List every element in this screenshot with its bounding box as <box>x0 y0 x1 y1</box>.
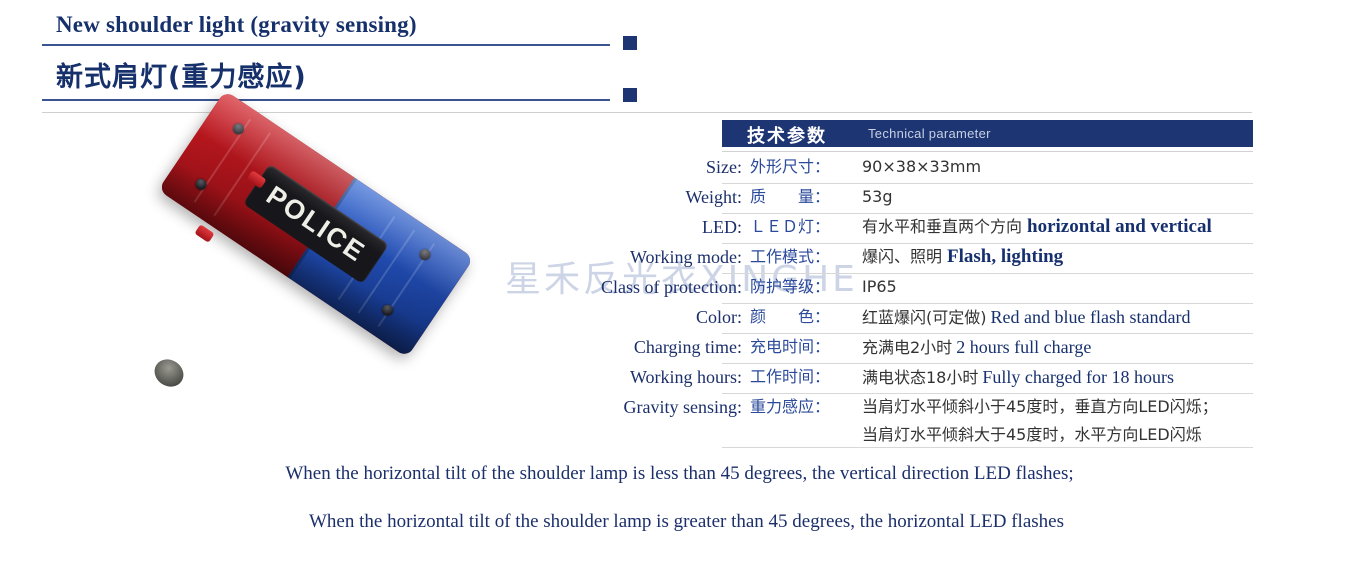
spec-value-text: 爆闪、照明 <box>862 247 942 266</box>
spec-row: Working hours:工作时间：满电状态18小时Fully charged… <box>0 364 1345 394</box>
square-accent-icon-top <box>623 36 637 50</box>
footer-notes: When the horizontal tilt of the shoulder… <box>0 458 1345 538</box>
spec-value-english-bold: horizontal and vertical <box>1027 216 1212 237</box>
square-accent-icon-bottom <box>623 88 637 102</box>
spec-value-text: 90×38×33mm <box>862 157 981 176</box>
page-title-chinese: 新式肩灯(重力感应) <box>56 55 307 94</box>
spec-row: LED:ＬＥＤ灯：有水平和垂直两个方向horizontal and vertic… <box>0 214 1345 244</box>
spec-row-separator <box>722 447 1253 448</box>
spec-value: 爆闪、照明Flash, lighting <box>862 244 1063 270</box>
spec-label-chinese: 防护等级： <box>750 274 854 300</box>
spec-value-english: Red and blue flash standard <box>991 307 1191 327</box>
spec-label-english: Weight: <box>0 184 742 210</box>
spec-row: Working mode:工作模式：爆闪、照明Flash, lighting <box>0 244 1345 274</box>
spec-label-english: LED: <box>0 214 742 240</box>
spec-label-english: Gravity sensing: <box>0 394 742 420</box>
spec-value-text: IP65 <box>862 277 897 296</box>
spec-value-english-bold: Flash, lighting <box>947 246 1063 267</box>
spec-row: Color:颜 色：红蓝爆闪(可定做)Red and blue flash st… <box>0 304 1345 334</box>
spec-value-text: 红蓝爆闪(可定做) <box>862 308 987 327</box>
page-title-english: New shoulder light (gravity sensing) <box>56 12 417 38</box>
spec-value: 满电状态18小时Fully charged for 18 hours <box>862 364 1174 391</box>
spec-header-underline <box>722 151 1253 152</box>
spec-label-english: Color: <box>0 304 742 330</box>
spec-value-english: 2 hours full charge <box>956 337 1091 357</box>
spec-value: 有水平和垂直两个方向horizontal and vertical <box>862 214 1212 240</box>
spec-value: 充满电2小时2 hours full charge <box>862 334 1091 361</box>
header-divider-bottom <box>42 99 610 101</box>
note-line-2: When the horizontal tilt of the shoulder… <box>0 506 1345 538</box>
spec-label-chinese: 充电时间： <box>750 334 854 360</box>
spec-value: 当肩灯水平倾斜小于45度时，垂直方向LED闪烁；当肩灯水平倾斜大于45度时，水平… <box>862 394 1218 448</box>
spec-row: Class of protection:防护等级：IP65 <box>0 274 1345 304</box>
spec-label-english: Size: <box>0 154 742 180</box>
spec-table: Size:外形尺寸：90×38×33mmWeight:质 量：53gLED:ＬＥ… <box>0 154 1345 448</box>
spec-value-second-line: 当肩灯水平倾斜大于45度时，水平方向LED闪烁 <box>862 422 1218 448</box>
spec-value: IP65 <box>862 274 897 300</box>
spec-label-chinese: 颜 色： <box>750 304 854 330</box>
note-line-1: When the horizontal tilt of the shoulder… <box>0 458 1345 490</box>
spec-value-text: 当肩灯水平倾斜小于45度时，垂直方向LED闪烁； <box>862 397 1218 416</box>
spec-row: Size:外形尺寸：90×38×33mm <box>0 154 1345 184</box>
spec-row: Weight:质 量：53g <box>0 184 1345 214</box>
spec-label-english: Charging time: <box>0 334 742 360</box>
spec-label-chinese: 工作时间： <box>750 364 854 390</box>
spec-value-text: 有水平和垂直两个方向 <box>862 217 1022 236</box>
spec-value-text: 满电状态18小时 <box>862 368 978 387</box>
spec-label-chinese: ＬＥＤ灯： <box>750 214 854 240</box>
spec-value: 90×38×33mm <box>862 154 981 180</box>
spec-value: 红蓝爆闪(可定做)Red and blue flash standard <box>862 304 1190 331</box>
spec-label-chinese: 工作模式： <box>750 244 854 270</box>
spec-value: 53g <box>862 184 893 210</box>
spec-value-text: 53g <box>862 187 893 206</box>
page-header: New shoulder light (gravity sensing) 新式肩… <box>0 0 1345 118</box>
spec-header-chinese: 技术参数 <box>747 122 827 148</box>
header-divider-top <box>42 44 610 46</box>
spec-label-english: Working hours: <box>0 364 742 390</box>
spec-label-english: Class of protection: <box>0 274 742 300</box>
spec-label-chinese: 外形尺寸： <box>750 154 854 180</box>
spec-row: Charging time:充电时间：充满电2小时2 hours full ch… <box>0 334 1345 364</box>
spec-label-chinese: 重力感应： <box>750 394 854 420</box>
spec-header-bar: 技术参数 Technical parameter <box>722 120 1253 147</box>
spec-value-text: 充满电2小时 <box>862 338 952 357</box>
spec-label-english: Working mode: <box>0 244 742 270</box>
spec-row: Gravity sensing:重力感应：当肩灯水平倾斜小于45度时，垂直方向L… <box>0 394 1345 448</box>
spec-value-english: Fully charged for 18 hours <box>982 367 1174 387</box>
spec-label-chinese: 质 量： <box>750 184 854 210</box>
spec-header-english: Technical parameter <box>868 126 991 141</box>
